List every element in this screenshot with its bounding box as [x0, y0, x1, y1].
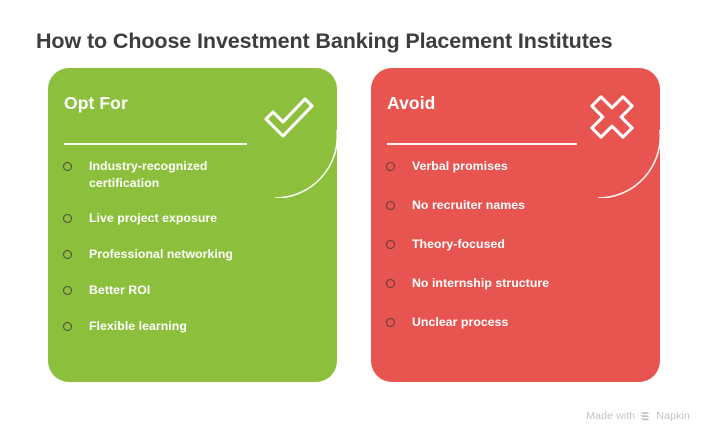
list-item-label: Industry-recognized certification	[89, 158, 209, 191]
bullet-circle-icon	[386, 240, 395, 249]
list-item: Industry-recognized certification	[63, 158, 327, 191]
bullet-circle-icon	[63, 214, 72, 223]
bullet-circle-icon	[63, 162, 72, 171]
bullet-circle-icon	[63, 286, 72, 295]
brand-label: Napkin	[656, 410, 690, 422]
list-item: Professional networking	[63, 246, 327, 263]
bullet-circle-icon	[386, 318, 395, 327]
list-item-label: Better ROI	[89, 282, 150, 299]
bullet-list-avoid: Verbal promises No recruiter names Theor…	[386, 158, 650, 353]
bullet-circle-icon	[386, 162, 395, 171]
list-item: Better ROI	[63, 282, 327, 299]
page-title: How to Choose Investment Banking Placeme…	[36, 29, 613, 54]
list-item: No internship structure	[386, 275, 650, 292]
card-heading-opt-for: Opt For	[64, 93, 128, 114]
bullet-circle-icon	[386, 279, 395, 288]
bullet-circle-icon	[63, 250, 72, 259]
card-opt-for: Opt For Industry-recognized certificatio…	[48, 68, 337, 382]
list-item-label: Live project exposure	[89, 210, 217, 227]
cross-mark-icon	[583, 88, 641, 146]
list-item-label: Verbal promises	[412, 158, 508, 175]
footer-credit: Made with Napkin	[586, 410, 690, 422]
card-heading-avoid: Avoid	[387, 93, 435, 114]
list-item: No recruiter names	[386, 197, 650, 214]
list-item-label: Unclear process	[412, 314, 508, 331]
list-item: Live project exposure	[63, 210, 327, 227]
list-item: Verbal promises	[386, 158, 650, 175]
list-item-label: No internship structure	[412, 275, 549, 292]
list-item-label: Professional networking	[89, 246, 233, 263]
made-with-label: Made with	[586, 410, 635, 422]
card-avoid: Avoid Verbal promises No recruiter names…	[371, 68, 660, 382]
list-item-label: Theory-focused	[412, 236, 505, 253]
infographic-canvas: How to Choose Investment Banking Placeme…	[0, 0, 708, 433]
check-mark-icon	[260, 88, 318, 146]
bullet-list-opt-for: Industry-recognized certification Live p…	[63, 158, 327, 354]
list-item: Flexible learning	[63, 318, 327, 335]
card-divider	[387, 143, 577, 145]
list-item-label: No recruiter names	[412, 197, 525, 214]
list-item: Theory-focused	[386, 236, 650, 253]
card-divider	[64, 143, 247, 145]
bullet-circle-icon	[386, 201, 395, 210]
napkin-logo-icon	[640, 411, 651, 422]
list-item-label: Flexible learning	[89, 318, 187, 335]
list-item: Unclear process	[386, 314, 650, 331]
bullet-circle-icon	[63, 322, 72, 331]
